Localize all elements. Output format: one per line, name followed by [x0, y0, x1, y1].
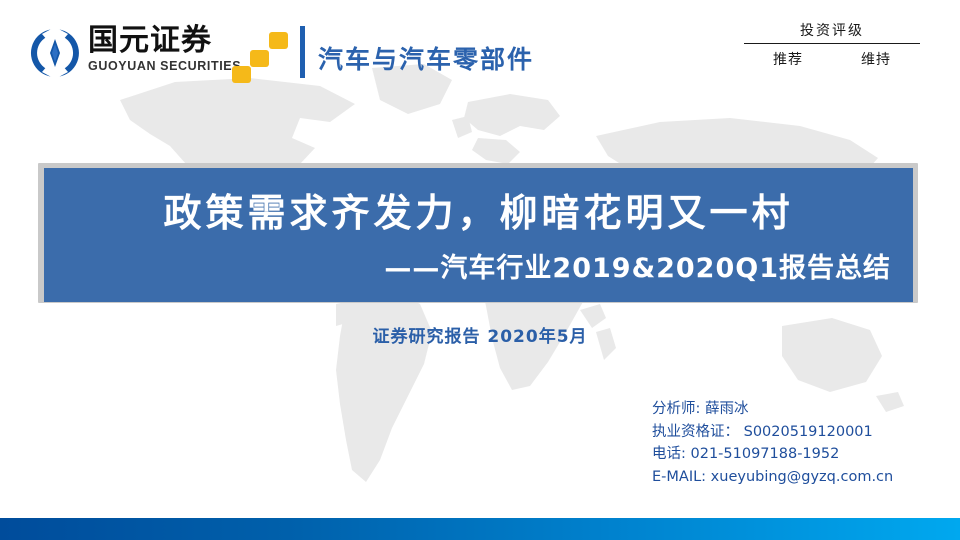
rating-divider: [744, 43, 920, 44]
report-title: 政策需求齐发力，柳暗花明又一村: [44, 182, 913, 237]
sector-title: 汽车与汽车零部件: [318, 40, 534, 76]
logo-wordmark: 国元证券 GUOYUAN SECURITIES: [88, 24, 241, 74]
analyst-license: 执业资格证： S0020519120001: [652, 421, 893, 444]
investment-rating-block: 投资评级 推荐 维持: [744, 22, 920, 69]
yellow-square-1: [232, 66, 251, 83]
analyst-email: E-MAIL: xueyubing@gyzq.com.cn: [652, 466, 893, 489]
yellow-squares-icon: [232, 32, 294, 84]
rating-value: 推荐: [773, 49, 803, 69]
footer-bar: [0, 518, 960, 540]
rating-values: 推荐 维持: [744, 49, 920, 69]
report-subtitle: ——汽车行业2019&2020Q1报告总结: [44, 246, 891, 285]
yellow-square-3: [269, 32, 288, 49]
analyst-name: 分析师: 薛雨冰: [652, 398, 893, 421]
rating-action: 维持: [861, 49, 891, 69]
report-type-date: 证券研究报告 2020年5月: [0, 322, 960, 347]
yellow-square-2: [250, 50, 269, 67]
guoyuan-emblem-icon: [28, 26, 82, 80]
vertical-divider-icon: [300, 26, 305, 78]
logo-name-cn: 国元证券: [88, 24, 241, 58]
page-header: 国元证券 GUOYUAN SECURITIES 汽车与汽车零部件 投资评级 推荐…: [0, 0, 960, 100]
title-banner: 政策需求齐发力，柳暗花明又一村 ——汽车行业2019&2020Q1报告总结: [44, 168, 913, 302]
slide-page: 国元证券 GUOYUAN SECURITIES 汽车与汽车零部件 投资评级 推荐…: [0, 0, 960, 540]
analyst-phone: 电话: 021-51097188-1952: [652, 443, 893, 466]
logo-name-en: GUOYUAN SECURITIES: [88, 59, 241, 74]
company-logo: 国元证券 GUOYUAN SECURITIES: [28, 24, 241, 80]
analyst-info: 分析师: 薛雨冰 执业资格证： S0020519120001 电话: 021-5…: [652, 398, 893, 488]
rating-title: 投资评级: [744, 22, 920, 40]
